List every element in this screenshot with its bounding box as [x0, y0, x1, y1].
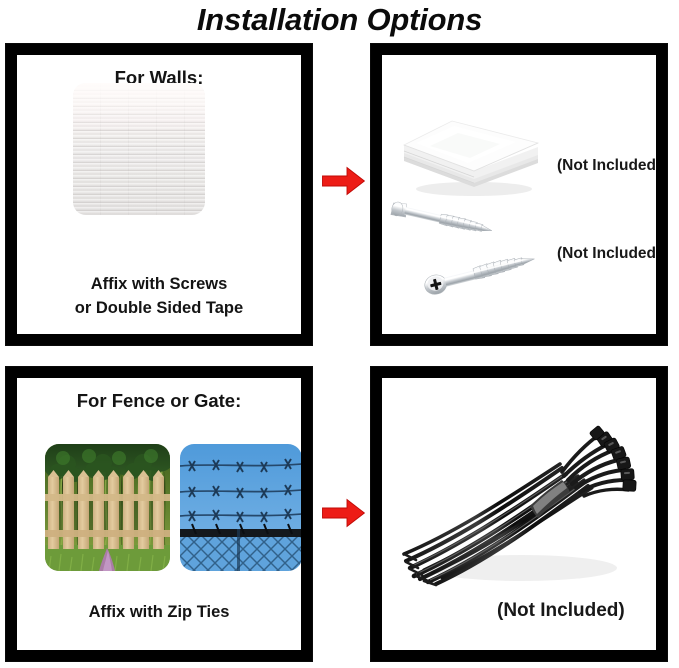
- black-zip-tie-bundle: [402, 418, 642, 593]
- panel-for-walls-content: For Walls: Affix with Screws or Double S…: [17, 55, 301, 334]
- panel-zip-ties-content: (Not Included): [382, 378, 656, 650]
- wood-screws: [390, 195, 568, 305]
- page-title: Installation Options: [0, 2, 679, 38]
- panel-wall-hardware-content: (Not Included): [382, 55, 656, 334]
- for-walls-caption-line-1: Affix with Screws: [17, 272, 301, 296]
- wall-highlight-wash: [73, 83, 205, 129]
- wooden-picket-fence-photo: [45, 444, 170, 571]
- for-walls-caption-line-2: or Double Sided Tape: [17, 296, 301, 320]
- for-fence-caption: Affix with Zip Ties: [17, 600, 301, 624]
- screws-not-included-label: (Not Included): [557, 245, 656, 263]
- panel-for-walls: For Walls: Affix with Screws or Double S…: [5, 43, 313, 346]
- for-fence-heading: For Fence or Gate:: [17, 390, 301, 412]
- panel-zip-ties: (Not Included): [370, 366, 668, 662]
- double-sided-tape-stack: [396, 113, 546, 199]
- white-brick-wall-swatch: [73, 83, 205, 215]
- panel-for-fence-or-gate: For Fence or Gate:: [5, 366, 313, 662]
- for-walls-caption: Affix with Screws or Double Sided Tape: [17, 272, 301, 320]
- right-arrow-icon: [321, 498, 366, 528]
- chain-link-barbed-wire-fence-photo: [180, 444, 301, 571]
- panel-for-fence-content: For Fence or Gate:: [17, 378, 301, 650]
- panel-wall-hardware: (Not Included): [370, 43, 668, 346]
- zip-ties-not-included-label: (Not Included): [497, 600, 625, 622]
- installation-options-infographic: Installation Options For Walls: Affix wi…: [0, 0, 679, 668]
- tape-not-included-label: (Not Included): [557, 157, 656, 175]
- right-arrow-icon: [321, 166, 366, 196]
